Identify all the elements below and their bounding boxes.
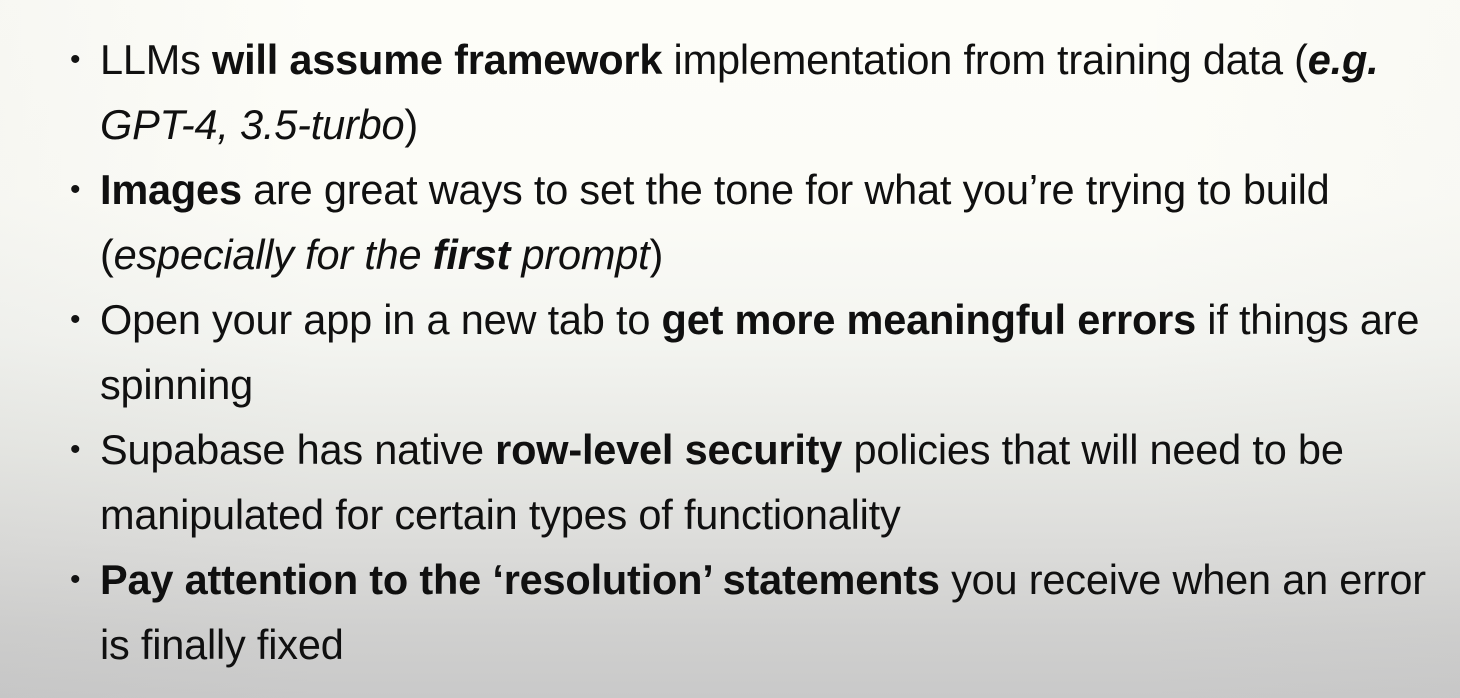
- bullet-text: Pay attention to the ‘resolution’ statem…: [100, 556, 1426, 668]
- bullet-text: Open your app in a new tab to get more m…: [100, 296, 1419, 408]
- bullet-list: •LLMs will assume framework implementati…: [0, 0, 1460, 677]
- bullet-marker-icon: •: [70, 27, 94, 92]
- text-run: Images: [100, 166, 242, 213]
- text-run: prompt: [510, 231, 649, 278]
- bullet-text: LLMs will assume framework implementatio…: [100, 36, 1379, 148]
- text-run: will assume framework: [212, 36, 662, 83]
- bullet-marker-icon: •: [70, 547, 94, 612]
- bullet-item: •Pay attention to the ‘resolution’ state…: [70, 547, 1442, 677]
- text-run: Pay attention to the ‘resolution’ statem…: [100, 556, 940, 603]
- bullet-item: •Open your app in a new tab to get more …: [70, 287, 1442, 417]
- text-run: especially for the: [114, 231, 433, 278]
- slide-canvas: •LLMs will assume framework implementati…: [0, 0, 1460, 698]
- bullet-item: •LLMs will assume framework implementati…: [70, 27, 1442, 157]
- text-run: ): [649, 231, 663, 278]
- bullet-marker-icon: •: [70, 287, 94, 352]
- text-run: e.g.: [1308, 36, 1379, 83]
- bullet-text: Images are great ways to set the tone fo…: [100, 166, 1330, 278]
- text-run: implementation from training data (: [662, 36, 1308, 83]
- bullet-item: •Supabase has native row-level security …: [70, 417, 1442, 547]
- bullet-text: Supabase has native row-level security p…: [100, 426, 1344, 538]
- bullet-marker-icon: •: [70, 157, 94, 222]
- text-run: row-level security: [495, 426, 842, 473]
- text-run: GPT-4, 3.5-turbo: [100, 101, 404, 148]
- bullet-item: •Images are great ways to set the tone f…: [70, 157, 1442, 287]
- text-run: LLMs: [100, 36, 212, 83]
- text-run: Supabase has native: [100, 426, 495, 473]
- text-run: Open your app in a new tab to: [100, 296, 662, 343]
- text-run: first: [433, 231, 510, 278]
- text-run: get more meaningful errors: [662, 296, 1196, 343]
- text-run: ): [404, 101, 418, 148]
- bullet-marker-icon: •: [70, 417, 94, 482]
